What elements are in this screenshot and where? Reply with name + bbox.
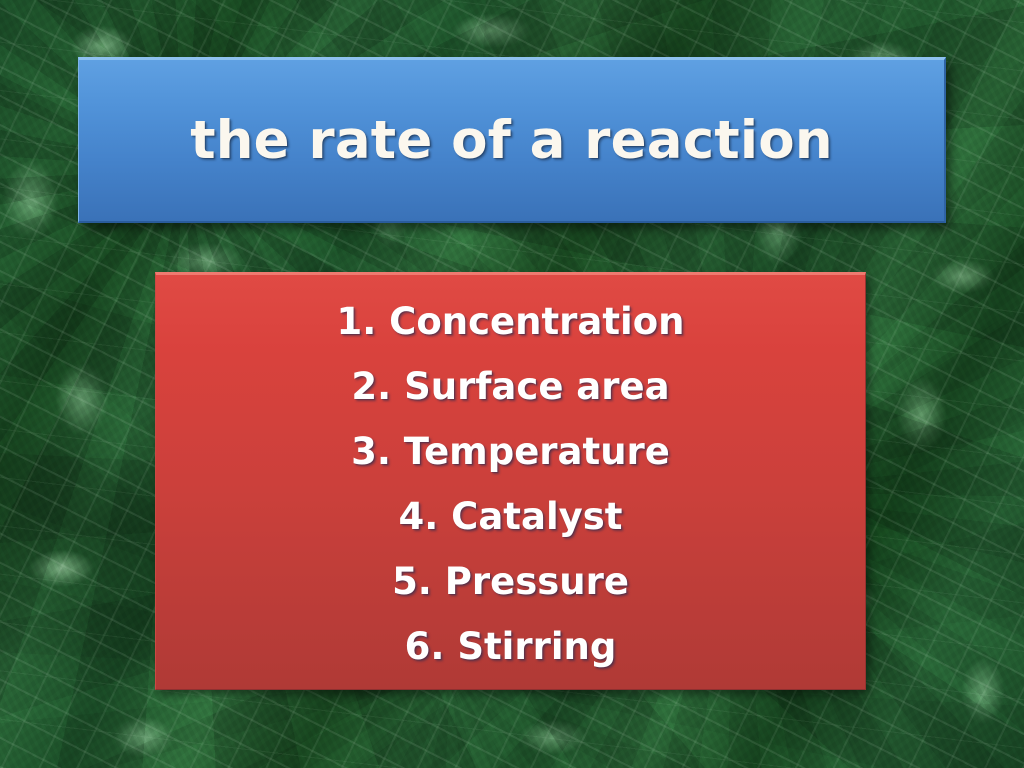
presentation-slide: the rate of a reaction 1. Concentration …	[0, 0, 1024, 768]
slide-title: the rate of a reaction	[190, 114, 833, 167]
list-item: 1. Concentration	[337, 289, 685, 354]
title-box[interactable]: the rate of a reaction	[78, 57, 946, 223]
list-item: 3. Temperature	[351, 419, 670, 484]
list-item: 4. Catalyst	[399, 484, 623, 549]
list-item: 2. Surface area	[351, 354, 669, 419]
factors-list-box[interactable]: 1. Concentration 2. Surface area 3. Temp…	[155, 272, 866, 690]
list-item: 6. Stirring	[405, 614, 617, 679]
list-item: 5. Pressure	[392, 549, 629, 614]
